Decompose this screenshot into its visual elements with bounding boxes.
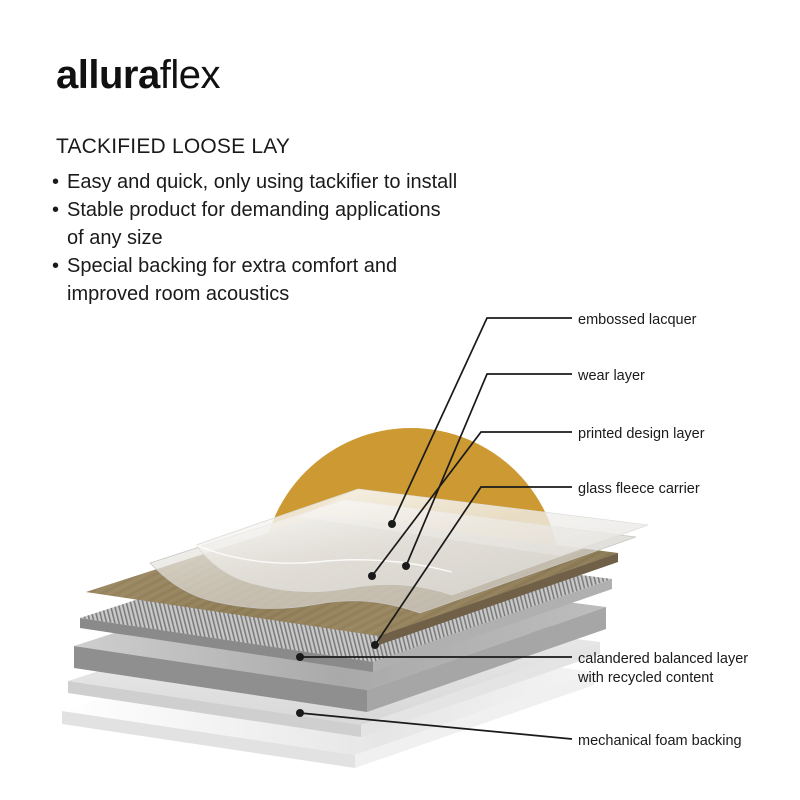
callout-line: with recycled content — [578, 669, 748, 688]
callout-label-printed-design-layer: printed design layer — [578, 425, 705, 444]
product-info-panel: alluraflex TACKIFIED LOOSE LAY • Easy an… — [0, 0, 800, 800]
leader-dot-glass — [371, 641, 379, 649]
callout-line: printed design layer — [578, 425, 705, 444]
leader-dot-foam — [296, 709, 304, 717]
callout-line: glass fleece carrier — [578, 480, 700, 499]
leader-dot-calandered — [296, 653, 304, 661]
callout-label-glass-fleece-carrier: glass fleece carrier — [578, 480, 700, 499]
leader-dot-embossed — [388, 520, 396, 528]
callout-label-mechanical-foam-backing: mechanical foam backing — [578, 732, 742, 751]
callout-label-wear-layer: wear layer — [578, 367, 645, 386]
callout-label-calandered-balanced-layer: calandered balanced layer with recycled … — [578, 650, 748, 688]
callout-label-embossed-lacquer: embossed lacquer — [578, 311, 697, 330]
callout-line: calandered balanced layer — [578, 650, 748, 669]
callout-line: wear layer — [578, 367, 645, 386]
leader-dot-printed — [368, 572, 376, 580]
leader-dot-wear — [402, 562, 410, 570]
callout-line: mechanical foam backing — [578, 732, 742, 751]
callout-line: embossed lacquer — [578, 311, 697, 330]
